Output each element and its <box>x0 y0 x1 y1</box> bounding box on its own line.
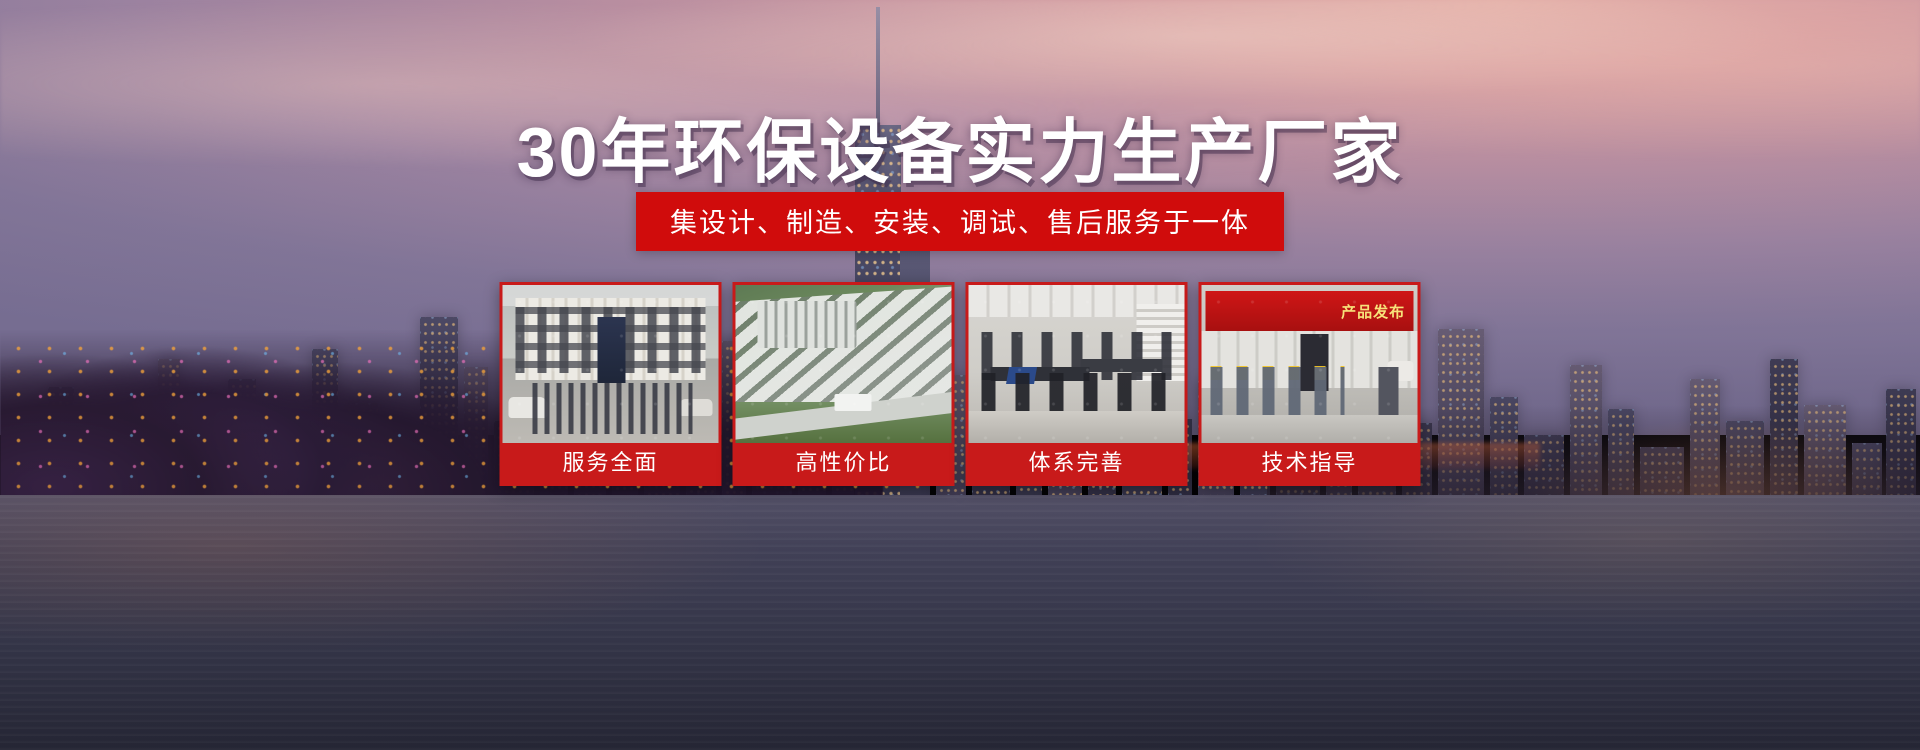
photo-watermark <box>736 285 952 443</box>
feature-card-guidance[interactable]: 产品发布 技术指导 <box>1199 282 1421 486</box>
banner-content: 30年环保设备实力生产厂家 集设计、制造、安装、调试、售后服务于一体 服务全面 <box>0 0 1920 750</box>
photo-watermark <box>1202 285 1418 443</box>
feature-card-caption: 体系完善 <box>969 443 1185 483</box>
feature-card-list: 服务全面 高性价比 <box>500 282 1421 486</box>
feature-card-service[interactable]: 服务全面 <box>500 282 722 486</box>
hero-banner: 30年环保设备实力生产厂家 集设计、制造、安装、调试、售后服务于一体 服务全面 <box>0 0 1920 750</box>
feature-photo-office-interior <box>969 285 1185 443</box>
feature-photo-workshop: 产品发布 <box>1202 285 1418 443</box>
photo-watermark <box>503 285 719 443</box>
feature-photo-office-building <box>503 285 719 443</box>
feature-photo-aerial-plant <box>736 285 952 443</box>
feature-card-caption: 高性价比 <box>736 443 952 483</box>
feature-card-system[interactable]: 体系完善 <box>966 282 1188 486</box>
feature-card-caption: 技术指导 <box>1202 443 1418 483</box>
photo-watermark <box>969 285 1185 443</box>
feature-card-caption: 服务全面 <box>503 443 719 483</box>
banner-headline: 30年环保设备实力生产厂家 <box>0 96 1920 197</box>
banner-subtitle-ribbon: 集设计、制造、安装、调试、售后服务于一体 <box>636 192 1284 251</box>
feature-card-value[interactable]: 高性价比 <box>733 282 955 486</box>
